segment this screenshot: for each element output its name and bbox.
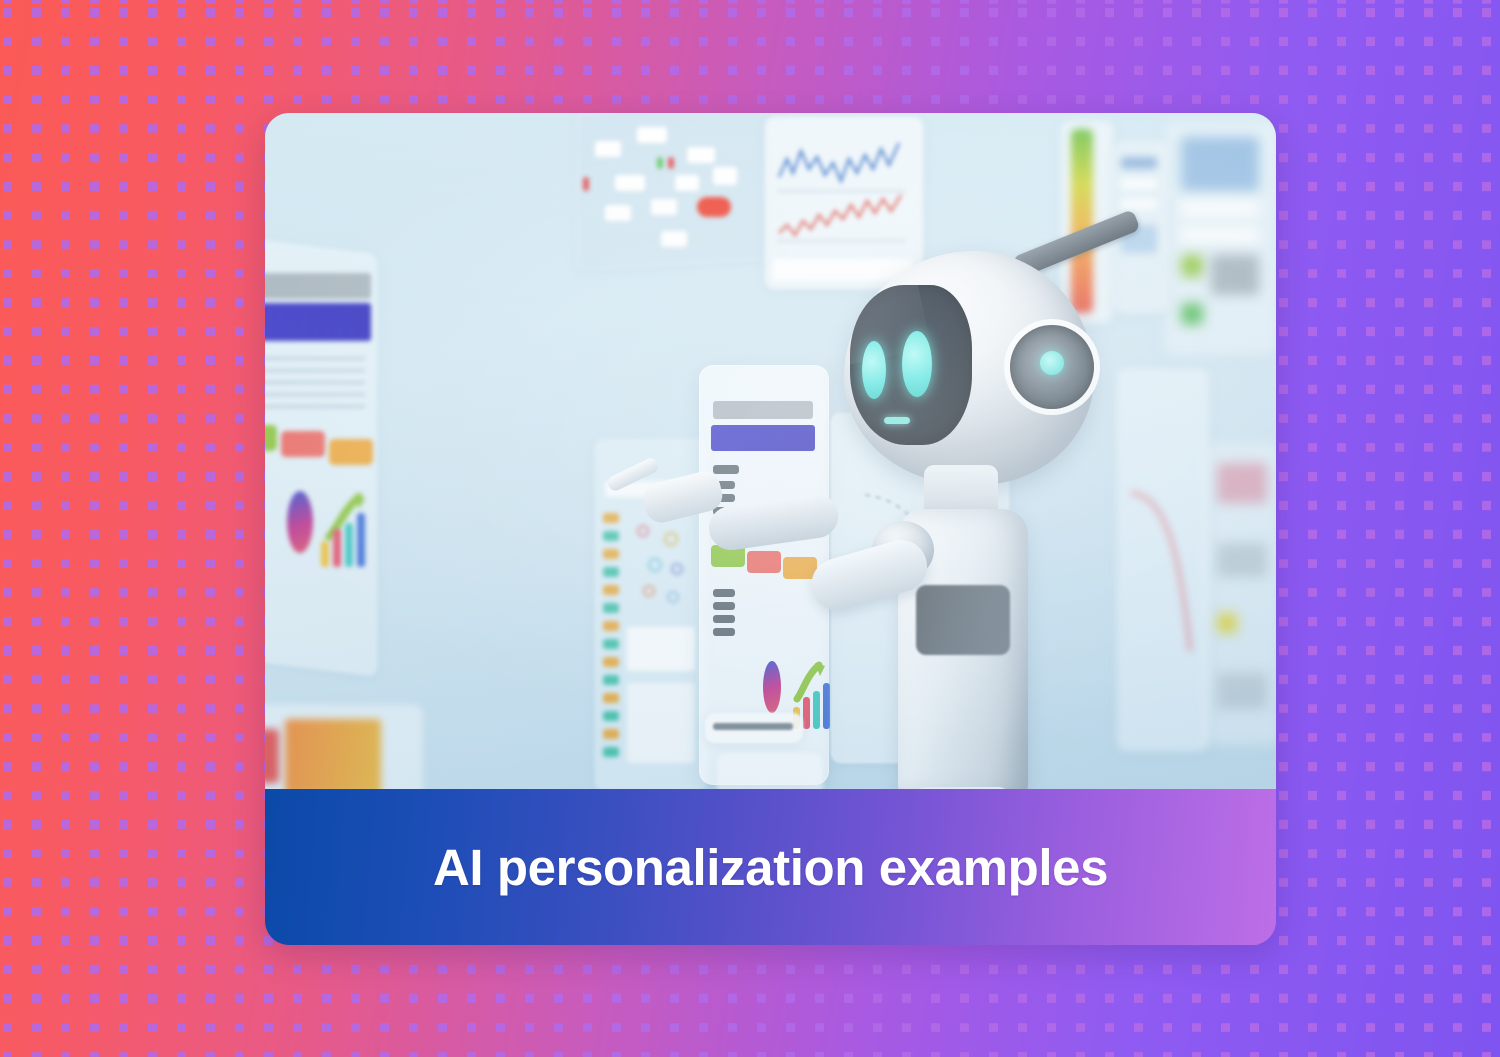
center-header-bar xyxy=(713,401,813,419)
annotation-text-line xyxy=(713,723,793,730)
panel-annotation-box xyxy=(717,753,823,789)
list-chip xyxy=(603,567,619,577)
list-chip xyxy=(603,675,619,685)
panel-gallery-tile xyxy=(1181,137,1259,191)
list-chip xyxy=(603,711,619,721)
robot-mouth-icon xyxy=(884,417,910,424)
flow-node xyxy=(687,147,715,163)
center-table-label xyxy=(713,602,735,610)
robot-ear-module xyxy=(1010,325,1094,409)
list-chip xyxy=(603,585,619,595)
panel-gallery-tile xyxy=(1181,227,1259,243)
robot-face-visor xyxy=(850,285,972,445)
flow-node xyxy=(595,141,621,157)
mini-table xyxy=(627,683,695,763)
robot-torso-shadow xyxy=(916,585,1010,655)
panel-gallery-tile xyxy=(1181,201,1259,217)
dashboard-table-row xyxy=(265,381,365,384)
article-thumbnail-card[interactable]: AI personalization examples xyxy=(265,113,1276,945)
timeseries-chart xyxy=(771,129,911,249)
center-table-label xyxy=(713,465,739,474)
panel-thumb xyxy=(1217,543,1267,577)
list-chip xyxy=(603,513,619,523)
list-chip xyxy=(603,549,619,559)
flow-node xyxy=(675,175,699,191)
list-chip xyxy=(603,603,619,613)
card-photo xyxy=(265,113,1276,789)
center-table-label xyxy=(713,589,735,597)
center-table-label xyxy=(713,615,735,623)
list-chip xyxy=(603,639,619,649)
robot-eye-left-icon xyxy=(862,341,886,399)
kpi-bar xyxy=(357,513,365,567)
dashboard-table-row xyxy=(265,405,365,408)
panel-thumb xyxy=(1217,673,1267,709)
panel-gallery-tile xyxy=(1181,303,1203,325)
panel-row xyxy=(1121,199,1157,209)
dashboard-table-row xyxy=(265,357,365,360)
scatter-mini-chart xyxy=(629,513,697,613)
dashboard-table-row xyxy=(265,393,365,396)
flow-node xyxy=(605,205,631,221)
card-caption-bar[interactable]: AI personalization examples xyxy=(265,789,1276,945)
note-accent-red xyxy=(265,729,279,783)
panel-row xyxy=(1121,157,1157,169)
center-tab-red xyxy=(747,551,781,573)
flow-node xyxy=(637,127,667,143)
flow-marker xyxy=(657,157,663,169)
mini-panel xyxy=(627,627,695,671)
kpi-tab-red xyxy=(281,431,325,457)
kpi-bar xyxy=(345,523,353,567)
flow-node xyxy=(651,199,677,215)
kpi-bar xyxy=(333,529,341,567)
robot-eye-right-icon xyxy=(902,331,932,397)
screenshot-stage: AI personalization examples xyxy=(0,0,1500,1057)
dashboard-header-bar xyxy=(265,273,371,299)
center-title-band xyxy=(711,425,815,451)
list-chip xyxy=(603,531,619,541)
flow-node-alert xyxy=(697,197,731,217)
panel-thumb xyxy=(1217,463,1267,503)
list-chip xyxy=(603,657,619,667)
kpi-donut-chart xyxy=(287,491,313,553)
panel-gallery-tile xyxy=(1211,255,1259,295)
panel-thumb xyxy=(1217,613,1237,633)
list-chip xyxy=(603,621,619,631)
flow-node xyxy=(661,231,687,247)
center-donut-chart xyxy=(763,661,781,713)
note-accent-orange xyxy=(285,719,381,789)
robot-head xyxy=(844,251,1094,485)
flow-marker xyxy=(668,157,674,169)
flow-node xyxy=(615,175,645,191)
flow-node xyxy=(713,167,737,185)
kpi-tab-orange xyxy=(329,439,373,465)
list-chip xyxy=(603,729,619,739)
center-bar xyxy=(803,697,810,729)
dashboard-table-row xyxy=(265,369,365,372)
robot-figure xyxy=(820,233,1150,789)
list-chip xyxy=(603,693,619,703)
robot-ear-light xyxy=(1040,351,1064,375)
panel-gallery-tile xyxy=(1181,255,1203,277)
kpi-tab-green xyxy=(265,425,277,451)
center-table-label xyxy=(713,628,735,636)
kpi-bar xyxy=(321,541,329,567)
panel-row xyxy=(1121,179,1157,189)
card-title: AI personalization examples xyxy=(433,838,1108,897)
dashboard-title-band xyxy=(265,303,371,341)
center-bar xyxy=(813,691,820,729)
list-chip xyxy=(603,747,619,757)
flow-marker xyxy=(583,177,589,191)
